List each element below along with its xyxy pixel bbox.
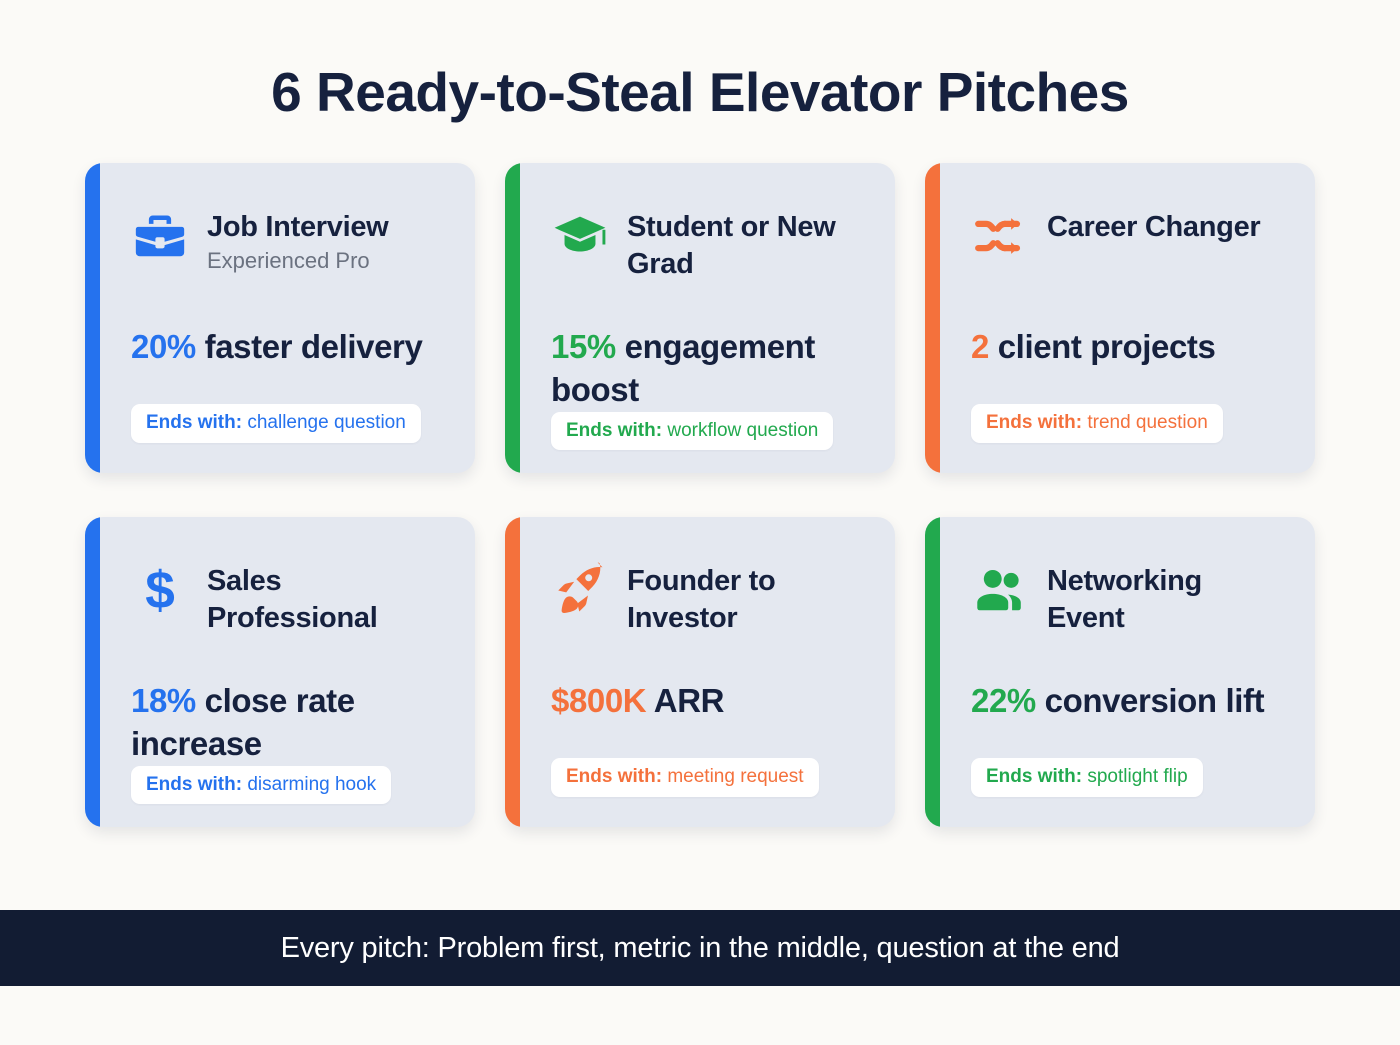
card-metric: 22% conversion lift — [971, 679, 1281, 723]
svg-text:$: $ — [145, 561, 175, 619]
ends-with-value: meeting request — [662, 766, 804, 787]
accent-bar — [505, 517, 520, 827]
page-title: 6 Ready-to-Steal Elevator Pitches — [0, 0, 1400, 123]
ends-with-value: workflow question — [662, 420, 818, 441]
metric-value: 20% — [131, 328, 196, 365]
card-metric: 2 client projects — [971, 325, 1281, 369]
accent-bar — [925, 517, 940, 827]
card-metric: 20% faster delivery — [131, 325, 441, 369]
metric-value: 2 — [971, 328, 989, 365]
pitch-card: Networking Event 22% conversion lift End… — [925, 517, 1315, 827]
metric-value: $800K — [551, 682, 646, 719]
ends-with-pill: Ends with: workflow question — [551, 412, 833, 451]
metric-rest: ARR — [646, 682, 724, 719]
card-metric: 18% close rate increase — [131, 679, 441, 766]
ends-with-label: Ends with: — [986, 412, 1082, 433]
card-title: Networking Event — [1047, 563, 1281, 637]
ends-with-value: challenge question — [242, 412, 406, 433]
graduation-cap-icon — [551, 207, 609, 265]
card-header: Networking Event — [971, 561, 1281, 653]
accent-bar — [85, 163, 100, 473]
pitch-card: Founder to Investor $800K ARR Ends with:… — [505, 517, 895, 827]
rocket-icon — [551, 561, 609, 619]
footer-text: Every pitch: Problem first, metric in th… — [281, 932, 1120, 965]
ends-with-pill: Ends with: trend question — [971, 404, 1223, 443]
briefcase-icon — [131, 207, 189, 265]
pitch-card-grid: Job Interview Experienced Pro 20% faster… — [0, 163, 1400, 827]
card-title: Job Interview — [207, 209, 388, 246]
card-header: Career Changer — [971, 207, 1281, 299]
ends-with-label: Ends with: — [986, 766, 1082, 787]
ends-with-pill: Ends with: meeting request — [551, 758, 819, 797]
pitch-card: $ Sales Professional 18% close rate incr… — [85, 517, 475, 827]
card-header-text: Student or New Grad — [627, 207, 861, 283]
ends-with-value: trend question — [1082, 412, 1208, 433]
card-title: Founder to Investor — [627, 563, 861, 637]
metric-rest: faster delivery — [196, 328, 423, 365]
metric-value: 15% — [551, 328, 616, 365]
card-header: Job Interview Experienced Pro — [131, 207, 441, 299]
ends-with-label: Ends with: — [146, 774, 242, 795]
card-metric: 15% engagement boost — [551, 325, 861, 412]
card-title: Student or New Grad — [627, 209, 861, 283]
card-header-text: Job Interview Experienced Pro — [207, 207, 388, 276]
ends-with-pill: Ends with: spotlight flip — [971, 758, 1203, 797]
ends-with-label: Ends with: — [146, 412, 242, 433]
metric-value: 22% — [971, 682, 1036, 719]
shuffle-arrows-icon — [971, 207, 1029, 265]
accent-bar — [505, 163, 520, 473]
accent-bar — [85, 517, 100, 827]
card-header: Founder to Investor — [551, 561, 861, 653]
footer-banner: Every pitch: Problem first, metric in th… — [0, 910, 1400, 986]
metric-value: 18% — [131, 682, 196, 719]
card-subtitle: Experienced Pro — [207, 247, 388, 276]
card-header-text: Networking Event — [1047, 561, 1281, 637]
ends-with-value: spotlight flip — [1082, 766, 1188, 787]
ends-with-pill: Ends with: disarming hook — [131, 766, 391, 805]
ends-with-label: Ends with: — [566, 420, 662, 441]
card-header-text: Sales Professional — [207, 561, 441, 637]
dollar-sign-icon: $ — [131, 561, 189, 619]
metric-rest: client projects — [989, 328, 1216, 365]
pitch-card: Job Interview Experienced Pro 20% faster… — [85, 163, 475, 473]
metric-rest: conversion lift — [1036, 682, 1264, 719]
card-header: Student or New Grad — [551, 207, 861, 299]
ends-with-label: Ends with: — [566, 766, 662, 787]
card-metric: $800K ARR — [551, 679, 861, 723]
ends-with-value: disarming hook — [242, 774, 376, 795]
card-header-text: Founder to Investor — [627, 561, 861, 637]
ends-with-pill: Ends with: challenge question — [131, 404, 421, 443]
people-icon — [971, 561, 1029, 619]
pitch-card: Career Changer 2 client projects Ends wi… — [925, 163, 1315, 473]
card-title: Career Changer — [1047, 209, 1260, 246]
card-title: Sales Professional — [207, 563, 441, 637]
accent-bar — [925, 163, 940, 473]
card-header: $ Sales Professional — [131, 561, 441, 653]
pitch-card: Student or New Grad 15% engagement boost… — [505, 163, 895, 473]
card-header-text: Career Changer — [1047, 207, 1260, 246]
